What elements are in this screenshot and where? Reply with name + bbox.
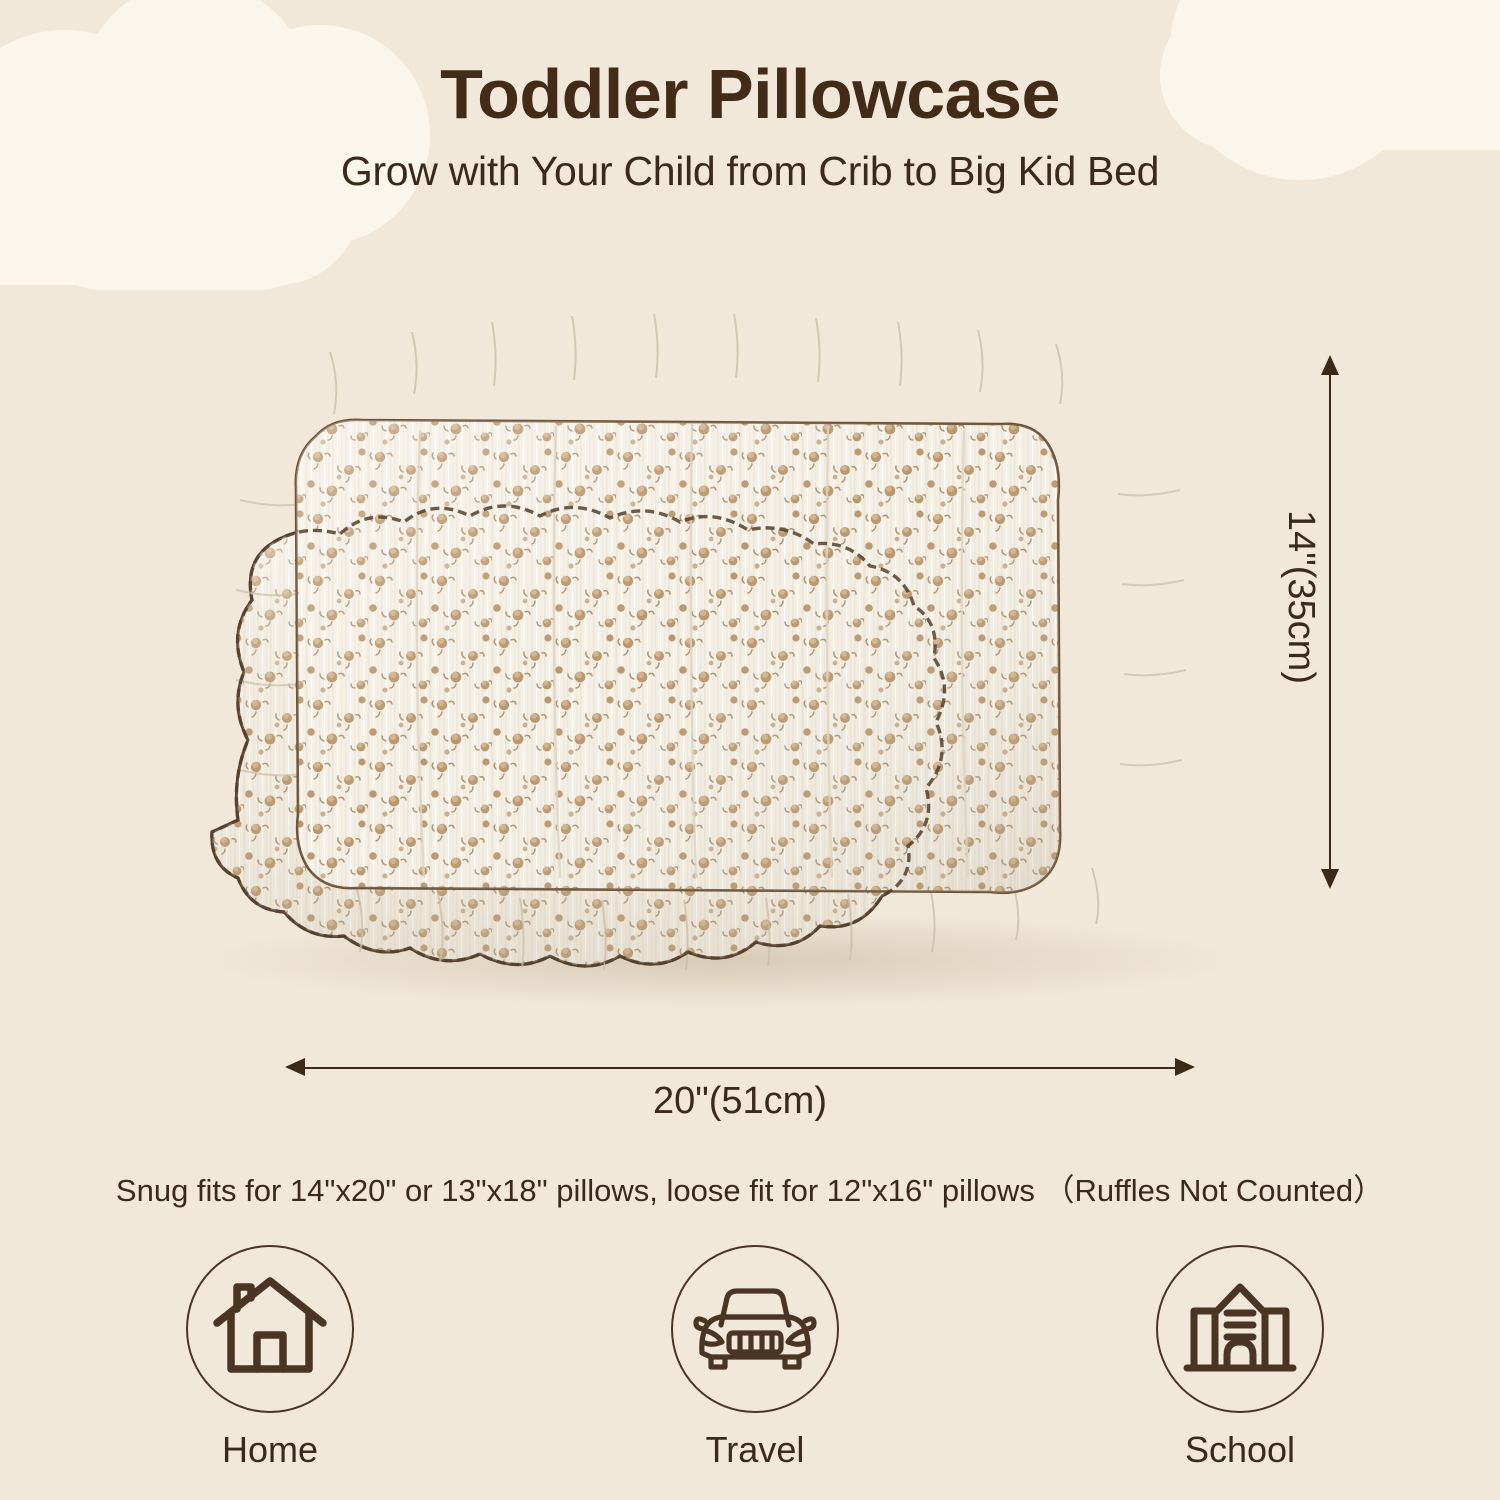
width-dimension-label: 20"(51cm)	[285, 1080, 1195, 1123]
height-arrow-shaft	[1329, 372, 1331, 884]
page-title: Toddler Pillowcase	[0, 58, 1500, 132]
house-icon	[211, 1273, 329, 1385]
height-dimension-label: 14"(35cm)	[1279, 510, 1322, 810]
usecase-icon-circle-school	[1156, 1245, 1324, 1413]
ruffle-pleats-top	[330, 314, 1062, 414]
usecase-icon-circle-travel	[671, 1245, 839, 1413]
width-arrow-head-left	[285, 1058, 305, 1076]
usecase-label-travel: Travel	[595, 1429, 915, 1471]
fit-note: Snug fits for 14"x20" or 13"x18" pillows…	[0, 1165, 1500, 1210]
usecase-label-school: School	[1080, 1429, 1400, 1471]
usecase-icon-circle-home	[186, 1245, 354, 1413]
width-dimension: 20"(51cm)	[285, 1048, 1195, 1092]
usecase-home: Home	[110, 1245, 430, 1471]
height-dimension: 14"(35cm)	[1300, 355, 1410, 905]
usecase-travel: Travel	[595, 1245, 915, 1471]
height-arrow-head-bottom	[1321, 869, 1339, 889]
header: Toddler Pillowcase Grow with Your Child …	[0, 58, 1500, 195]
product-image	[120, 260, 1300, 1020]
width-arrow-head-right	[1175, 1058, 1195, 1076]
page-subtitle: Grow with Your Child from Crib to Big Ki…	[0, 148, 1500, 195]
car-icon	[693, 1277, 817, 1381]
usecase-school: School	[1080, 1245, 1400, 1471]
width-arrow-shaft	[303, 1067, 1177, 1069]
product-infographic: Toddler Pillowcase Grow with Your Child …	[0, 0, 1500, 1500]
pillowcase-illustration	[120, 260, 1300, 1020]
usecase-label-home: Home	[110, 1429, 430, 1471]
usecase-list: Home	[110, 1245, 1400, 1471]
school-icon	[1182, 1275, 1298, 1383]
height-arrow-head-top	[1321, 355, 1339, 375]
